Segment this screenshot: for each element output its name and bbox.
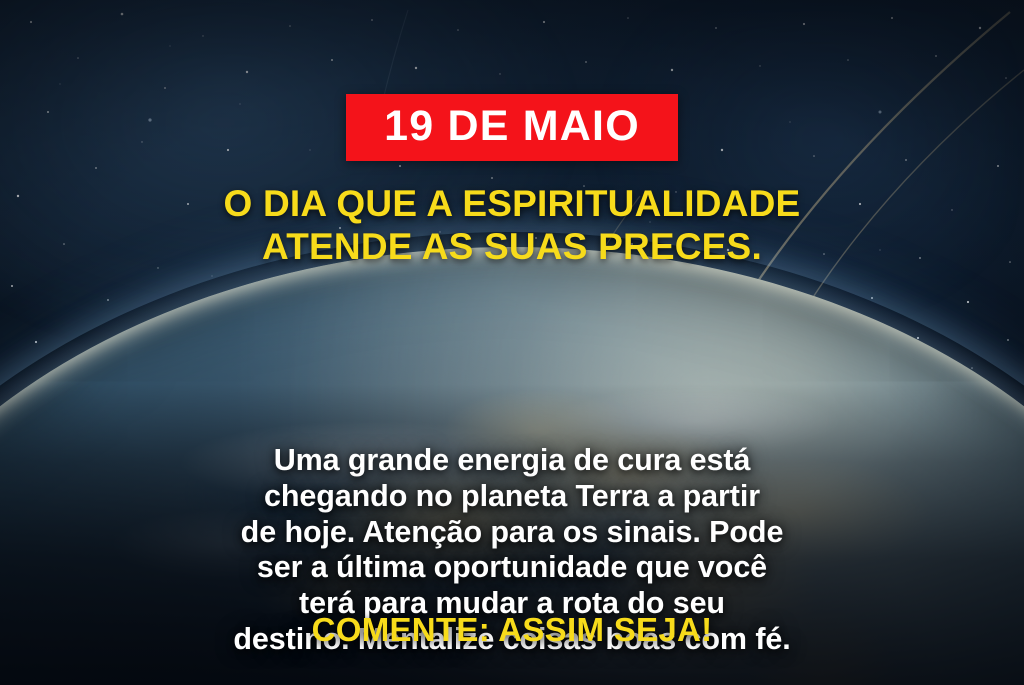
call-to-action: COMENTE: ASSIM SEJA! — [312, 611, 713, 649]
poster-canvas: 19 DE MAIO O DIA QUE A ESPIRITUALIDADE A… — [0, 0, 1024, 685]
headline-line-1: O DIA QUE A ESPIRITUALIDADE — [224, 183, 801, 226]
date-banner: 19 DE MAIO — [346, 94, 678, 161]
body-line-1: Uma grande energia de cura está — [52, 443, 972, 479]
body-line-2: chegando no planeta Terra a partir — [52, 479, 972, 515]
poster-content: 19 DE MAIO O DIA QUE A ESPIRITUALIDADE A… — [0, 0, 1024, 685]
body-line-4: ser a última oportunidade que você — [52, 550, 972, 586]
headline-line-2: ATENDE AS SUAS PRECES. — [224, 226, 801, 269]
body-line-3: de hoje. Atenção para os sinais. Pode — [52, 515, 972, 551]
headline: O DIA QUE A ESPIRITUALIDADE ATENDE AS SU… — [224, 183, 801, 269]
